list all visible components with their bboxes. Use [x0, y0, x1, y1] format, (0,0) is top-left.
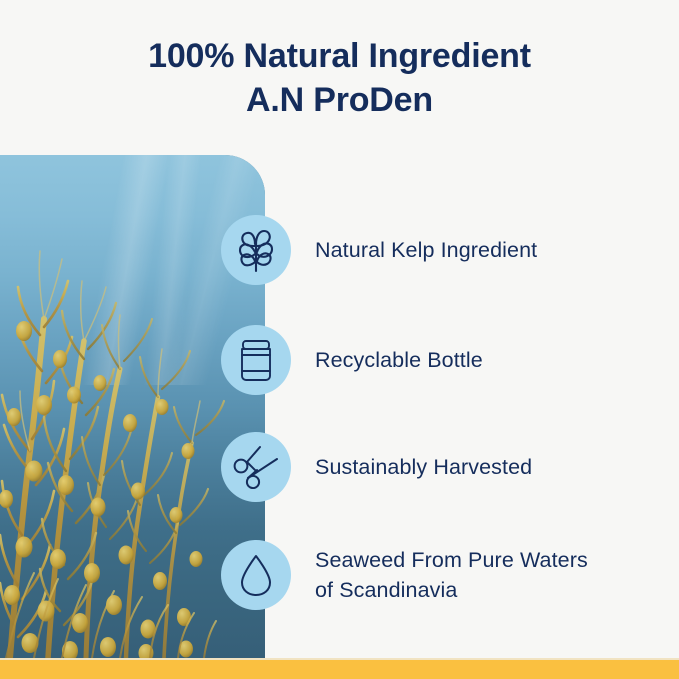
scissors-icon — [233, 445, 279, 489]
feature-label: Seaweed From Pure Waters of Scandinavia — [315, 545, 679, 605]
feature-label-line-1: Seaweed From Pure Waters — [315, 548, 588, 572]
bottom-accent-bar — [0, 660, 679, 679]
water-drop-icon — [239, 553, 273, 597]
recyclable-bottle-icon-badge — [221, 325, 291, 395]
feature-label: Natural Kelp Ingredient — [315, 235, 679, 265]
recyclable-bottle-icon — [237, 338, 275, 382]
kelp-leaf-icon — [235, 227, 277, 273]
water-drop-icon-badge — [221, 540, 291, 610]
kelp-leaf-icon-badge — [221, 215, 291, 285]
feature-label: Sustainably Harvested — [315, 452, 679, 482]
infographic-canvas: 100% Natural Ingredient A.N ProDen — [0, 0, 679, 679]
scissors-icon-badge — [221, 432, 291, 502]
feature-list: Natural Kelp Ingredient Recyclable Bottl… — [0, 0, 679, 679]
feature-label-line-2: of Scandinavia — [315, 578, 457, 602]
feature-label: Recyclable Bottle — [315, 345, 679, 375]
